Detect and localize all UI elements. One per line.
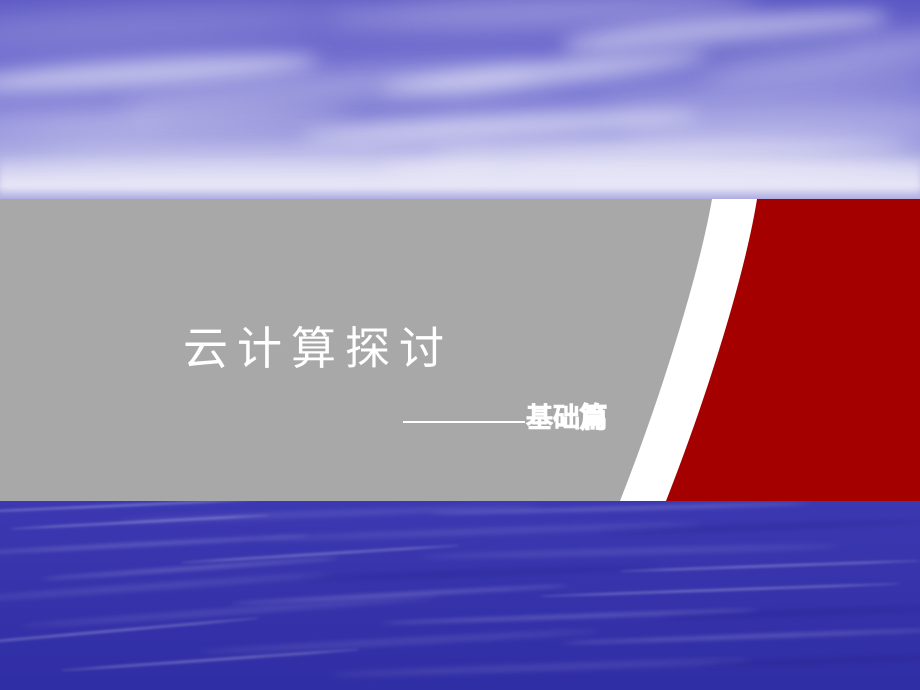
swoosh-graphic — [0, 199, 920, 501]
water-ripple — [0, 501, 260, 514]
water-ripple — [0, 617, 259, 647]
title-band — [0, 199, 920, 501]
water-ripple — [10, 514, 270, 530]
water-ripple — [230, 584, 570, 605]
sky-background — [0, 0, 920, 200]
water-ripple — [300, 565, 660, 582]
water-ripple — [420, 544, 840, 560]
water-ripple — [330, 658, 750, 678]
cloud-shape — [0, 0, 361, 53]
water-ripple — [0, 572, 330, 603]
water-ripple — [20, 594, 439, 628]
water-ripple — [0, 534, 310, 555]
water-ripple — [560, 628, 920, 644]
water-ripple — [180, 544, 460, 563]
water-background — [0, 501, 920, 690]
water-ripple — [620, 560, 920, 572]
horizon-haze — [0, 154, 920, 200]
water-ripple — [540, 583, 900, 598]
presentation-slide: 云计算探讨 基础篇 — [0, 0, 920, 690]
water-ripple — [200, 629, 600, 655]
